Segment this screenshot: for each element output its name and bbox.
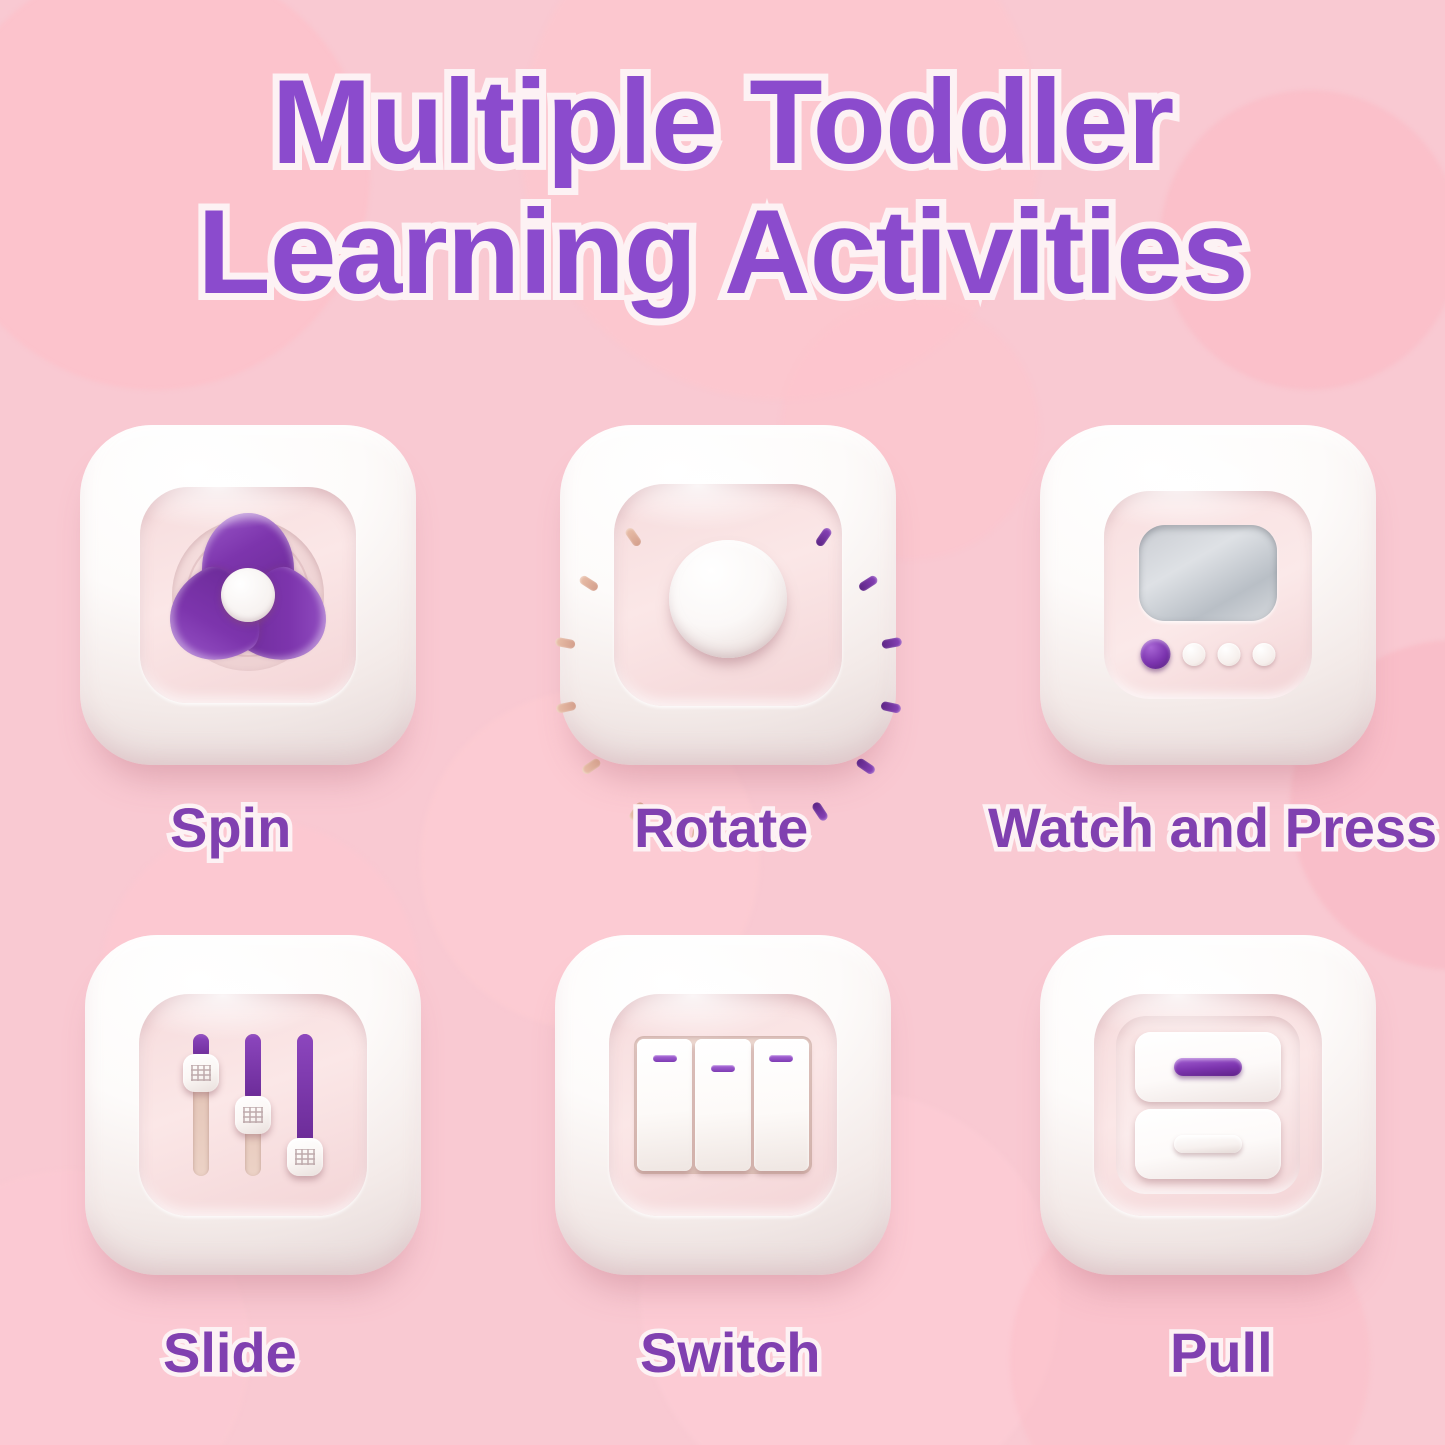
rocker-indicator	[711, 1065, 735, 1072]
tv-bezel	[1104, 491, 1312, 699]
activity-label-switch: Switch	[640, 1320, 820, 1385]
power-button[interactable]	[1141, 639, 1171, 669]
drawer-bottom[interactable]	[1135, 1109, 1281, 1179]
rocker-indicator	[653, 1055, 677, 1062]
activity-label-spin: Spin	[170, 795, 291, 860]
drawer-handle-white[interactable]	[1174, 1135, 1242, 1153]
rocker-1[interactable]	[637, 1039, 692, 1171]
channel-button-1[interactable]	[1183, 643, 1206, 666]
toy-tile-fan[interactable]	[80, 425, 416, 765]
toy-tile-switch[interactable]	[555, 935, 891, 1275]
drawer-handle-purple[interactable]	[1174, 1058, 1242, 1076]
activity-label-pull: Pull	[1170, 1320, 1273, 1385]
tv-screen[interactable]	[1139, 525, 1277, 621]
activity-label-slide: Slide	[163, 1320, 297, 1385]
dial-tick-active	[814, 526, 833, 548]
dial-tick-inactive	[580, 757, 602, 776]
dial-tick-active	[881, 637, 902, 649]
drawer-frame	[1116, 1016, 1300, 1194]
tile-recess	[1094, 994, 1322, 1216]
activity-grid: Spin Rotate	[0, 0, 1445, 1445]
drawer-top[interactable]	[1135, 1032, 1281, 1102]
rocker-3[interactable]	[754, 1039, 809, 1171]
activity-label-watch-and-press: Watch and Press	[988, 795, 1437, 860]
slider-knob[interactable]	[235, 1096, 271, 1134]
channel-button-3[interactable]	[1253, 643, 1276, 666]
toy-tile-tv[interactable]	[1040, 425, 1376, 765]
slider-2[interactable]	[230, 1034, 276, 1176]
channel-button-2[interactable]	[1218, 643, 1241, 666]
rocker-2[interactable]	[695, 1039, 750, 1171]
tile-recess	[614, 484, 842, 706]
tile-recess	[139, 994, 367, 1216]
slider-3[interactable]	[282, 1034, 328, 1176]
rocker-indicator	[769, 1055, 793, 1062]
dial-tick-active	[810, 801, 829, 823]
fan-hub	[221, 568, 275, 622]
dial-tick-inactive	[554, 637, 575, 649]
dial-tick-inactive	[555, 701, 576, 714]
tile-recess	[609, 994, 837, 1216]
activity-label-rotate: Rotate	[634, 795, 808, 860]
tile-recess	[140, 487, 356, 703]
toy-tile-knob[interactable]	[560, 425, 896, 765]
toy-tile-pull[interactable]	[1040, 935, 1376, 1275]
toy-tile-sliders[interactable]	[85, 935, 421, 1275]
dial-tick-inactive	[577, 574, 599, 592]
dial-tick-inactive	[623, 526, 642, 548]
slider-knob[interactable]	[287, 1138, 323, 1176]
slider-1[interactable]	[178, 1034, 224, 1176]
dial-tick-active	[854, 757, 876, 776]
slider-knob[interactable]	[183, 1054, 219, 1092]
dial-tick-active	[857, 574, 879, 592]
dial-tick-active	[880, 701, 901, 714]
tv-button-row	[1141, 639, 1276, 669]
rotary-dial[interactable]	[669, 540, 787, 658]
slider-group	[178, 1034, 328, 1176]
switch-plate	[634, 1036, 812, 1174]
